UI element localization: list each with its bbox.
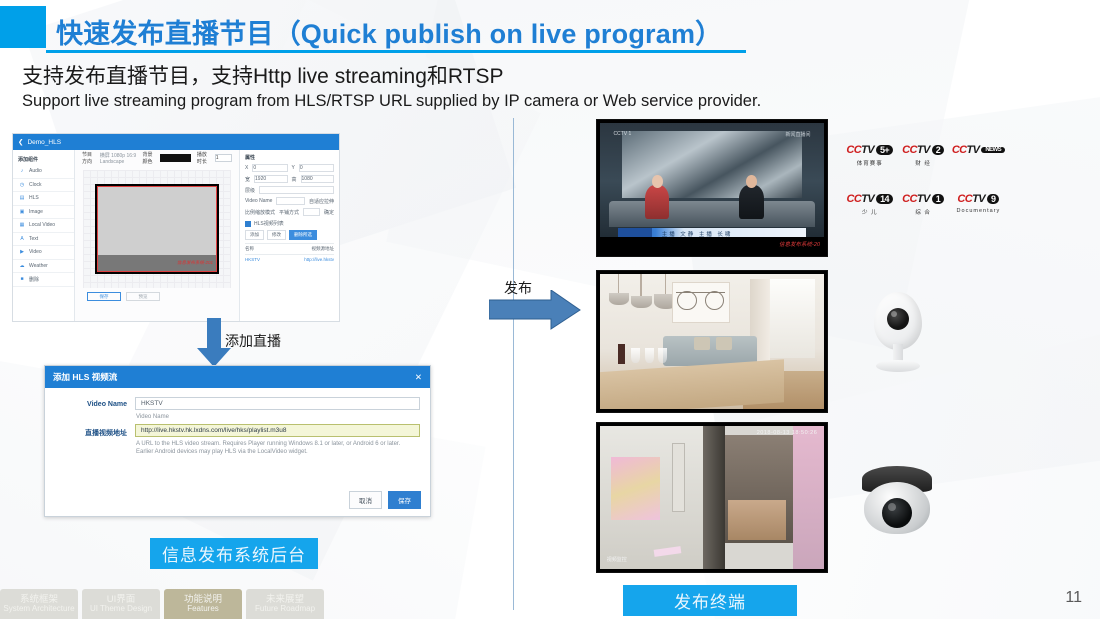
list-edit-button[interactable]: 修改 [267, 230, 286, 240]
cctv-wordmark: CCTV2 [902, 144, 944, 156]
add-hls-dialog: 添加 HLS 视频流 ✕ Video Name HKSTV Video Name… [44, 365, 431, 517]
list-delete-selected-button[interactable]: 删除所选 [289, 230, 317, 240]
stream-icon: ▤ [19, 195, 25, 201]
stream-url-help: A URL to the HLS video stream. Requires … [135, 437, 420, 457]
cctv-number: 5+ [876, 145, 893, 155]
property-row-name: Video Name 自适应拉伸 [245, 197, 334, 205]
zorder-input[interactable] [259, 186, 334, 194]
add-live-label: 添加直播 [225, 331, 281, 351]
cushion [716, 337, 732, 349]
sidebar-item-local-video[interactable]: ▦ Local Video [13, 219, 74, 233]
music-note-icon: ♪ [19, 168, 25, 174]
cctv-logo-news: CCTVNEWS [952, 140, 1005, 167]
chevron-left-icon[interactable]: ❮ [18, 138, 23, 146]
dialog-footer: 取消 保存 [349, 491, 421, 509]
sidebar-item-weather[interactable]: ☁ Weather [13, 260, 74, 274]
dialog-titlebar: 添加 HLS 视频流 ✕ [45, 366, 430, 388]
pendant-cord [665, 274, 667, 296]
app-screenshot-editor: ❮ Demo_HLS 添加组件 ♪ Audio ◷ Clock ▤ HLS ▣ … [12, 133, 340, 322]
wine-glass [658, 348, 667, 363]
tab-label-en: Future Roadmap [255, 605, 315, 613]
width-input[interactable]: 1920 [254, 175, 287, 183]
corridor-floor [728, 500, 786, 540]
cloud-icon: ☁ [19, 263, 25, 269]
canvas-footer-buttons: 保存 预览 [75, 292, 239, 301]
canvas-save-button[interactable]: 保存 [87, 292, 121, 301]
property-row-zorder: 层级 [245, 186, 334, 194]
tab-system-architecture[interactable]: 系统框架 System Architecture [0, 589, 78, 619]
section-divider [513, 118, 514, 610]
app-window-title: Demo_HLS [27, 139, 61, 146]
cctv-number: 14 [876, 194, 893, 204]
dialog-body: Video Name HKSTV Video Name 直播视频地址 http:… [45, 388, 430, 465]
pendant-shade [609, 293, 629, 305]
tab-features[interactable]: 功能说明 Features [164, 589, 242, 619]
fit-select[interactable] [303, 208, 320, 216]
fit-label: 平铺方式 [279, 209, 299, 216]
video-name-label: Video Name [55, 397, 127, 408]
property-row-xy: X 0 Y 0 [245, 164, 334, 172]
confirm-label[interactable]: 确定 [324, 209, 334, 216]
cctv-sublabel: 少 儿 [845, 208, 894, 216]
channel-logo-overlay: CCTV 1 [613, 131, 631, 137]
trash-icon: ■ [19, 276, 25, 282]
subtitle-chinese: 支持发布直播节目，支持Http live streaming和RTSP [22, 60, 504, 90]
cctv-logo-14: CCTV14 少 儿 [845, 189, 894, 216]
photo-cctv-news: CCTV 1 新闻直播间 主播 文静 主播 长啸 信息发布系统-20 [596, 119, 828, 257]
x-input[interactable]: 0 [252, 164, 287, 172]
cctv-sublabel: Documentary [952, 208, 1005, 214]
canvas-toolbar: 节目方向 横屏 1080p 16:9 Landscape 背景颜色 播放时长 1 [75, 150, 239, 166]
sidebar-heading: 添加组件 [13, 154, 74, 165]
duration-select[interactable]: 1 [215, 154, 232, 162]
cctv-logo-9: CCTV9 Documentary [952, 189, 1005, 216]
video-name-row: Video Name HKSTV Video Name [55, 397, 420, 422]
cctv-wordmark: CCTV9 [957, 193, 999, 205]
text-icon: A [19, 236, 25, 242]
camera-timestamp: 2018-08-13 18:50:26 [757, 430, 818, 436]
cctv-number: 2 [932, 145, 944, 155]
arrow-right-icon [489, 290, 581, 330]
property-row-scale: 比例缩放模式 平铺方式 确定 [245, 208, 334, 216]
camera-base [876, 360, 920, 372]
dome-camera [858, 462, 936, 544]
duration-label: 播放时长 [197, 151, 209, 165]
sidebar-item-label: Video [29, 249, 42, 255]
tab-ui-theme-design[interactable]: UI界面 UI Theme Design [82, 589, 160, 619]
wine-bottle [618, 344, 625, 364]
save-button[interactable]: 保存 [388, 491, 421, 509]
subtitle-english: Support live streaming program from HLS/… [22, 92, 761, 111]
news-anchor-right [739, 185, 764, 219]
video-name-input[interactable]: HKSTV [135, 397, 420, 410]
title-underline [46, 50, 746, 53]
elevator-button-panel [672, 443, 685, 512]
stream-url-input[interactable]: http://live.hkstv.hk.lxdns.com/live/hks/… [135, 424, 420, 437]
height-input[interactable]: 1080 [301, 175, 334, 183]
elevator-poster [611, 457, 660, 520]
clock-icon: ◷ [19, 182, 25, 188]
local-video-icon: ▦ [19, 222, 25, 228]
cctv-channel-logos: CCTV5+ 体育赛事 CCTV2 财 经 CCTVNEWS CCTV14 少 … [845, 140, 1005, 216]
image-icon: ▣ [19, 209, 25, 215]
sidebar-item-label: HLS [29, 195, 39, 201]
canvas-widget-hls[interactable]: 信息发布系统-201 [97, 186, 217, 272]
cctv-number: 1 [932, 194, 944, 204]
hls-list-buttons: 添加 修改 删除所选 [245, 230, 334, 240]
stream-url-row: 直播视频地址 http://live.hkstv.hk.lxdns.com/li… [55, 424, 420, 457]
camera-watermark: 视频监控 [607, 556, 627, 563]
app-widget-sidebar: 添加组件 ♪ Audio ◷ Clock ▤ HLS ▣ Image ▦ Loc… [13, 150, 75, 322]
canvas-screen: 信息发布系统-201 [95, 184, 219, 274]
x-label: X [245, 165, 248, 171]
pendant-shade [631, 296, 651, 308]
video-name-field: HKSTV Video Name [135, 397, 420, 422]
sidebar-item-hls[interactable]: ▤ HLS [13, 192, 74, 206]
sidebar-item-clock[interactable]: ◷ Clock [13, 179, 74, 193]
video-name-input[interactable] [276, 197, 305, 205]
news-studio-art: CCTV 1 新闻直播间 主播 文静 主播 长啸 [600, 123, 824, 253]
photo-elevator-surveillance: 2018-08-13 18:50:26 视频监控 [596, 422, 828, 573]
program-orientation-label: 节目方向 [82, 151, 94, 165]
camera-lens-icon [887, 308, 909, 330]
page-title: 快速发布直播节目（Quick publish on live program） [56, 12, 722, 51]
cctv-sublabel: 体育赛事 [845, 159, 894, 167]
sidebar-item-label: Weather [29, 263, 48, 269]
properties-title: 属性 [245, 154, 334, 161]
list-add-button[interactable]: 添加 [245, 230, 264, 240]
hls-list-header: HLS视频列表 [245, 220, 334, 227]
video-name-label: Video Name [245, 198, 272, 204]
cell-name: HKSTV [245, 257, 260, 262]
pendant-cord [640, 274, 642, 296]
dome-lens-icon [882, 498, 912, 528]
canvas-watermark: 信息发布系统-201 [98, 255, 216, 271]
cctv-logo-2: CCTV2 财 经 [898, 140, 947, 167]
background-color-label: 背景颜色 [142, 151, 154, 165]
cctv-sublabel: 财 经 [898, 159, 947, 167]
photo-living-room [596, 270, 828, 413]
table-row[interactable]: HKSTV http://live.hkstv [245, 255, 334, 264]
title-accent-block [0, 6, 46, 48]
sidebar-item-text[interactable]: A Text [13, 233, 74, 247]
sidebar-item-audio[interactable]: ♪ Audio [13, 165, 74, 179]
wine-glass [645, 348, 654, 363]
y-input[interactable]: 0 [299, 164, 334, 172]
property-row-wh: 宽 1920 高 1080 [245, 175, 334, 183]
sidebar-item-label: Text [29, 236, 38, 242]
cctv-wordmark: CCTVNEWS [952, 144, 1005, 156]
sidebar-item-delete[interactable]: ■ 删除 [13, 273, 74, 287]
y-label: Y [292, 165, 295, 171]
photo-inner [600, 274, 824, 409]
news-desk [609, 201, 815, 227]
app-titlebar: ❮ Demo_HLS [13, 134, 339, 150]
video-icon: ▶ [19, 249, 25, 255]
sidebar-item-image[interactable]: ▣ Image [13, 206, 74, 220]
news-anchor-left [645, 185, 670, 219]
photo-inner: 2018-08-13 18:50:26 视频监控 [600, 426, 824, 569]
cctv-wordmark: CCTV5+ [846, 144, 893, 156]
cctv-sublabel: 综 合 [898, 208, 947, 216]
cancel-button[interactable]: 取消 [349, 491, 382, 509]
tab-label-en: UI Theme Design [90, 605, 152, 613]
canvas-grid[interactable]: 信息发布系统-201 [83, 170, 231, 288]
cctv-wordmark: CCTV1 [902, 193, 944, 205]
height-label: 高 [292, 176, 297, 183]
column-name: 名称 [245, 246, 254, 252]
stream-url-field: http://live.hkstv.hk.lxdns.com/live/hks/… [135, 424, 420, 457]
sidebar-item-label: Clock [29, 182, 42, 188]
cctv-number: 9 [987, 194, 999, 204]
width-label: 宽 [245, 176, 250, 183]
cushion [694, 337, 710, 349]
sidebar-item-label: 删除 [29, 276, 39, 283]
overlay-watermark: 信息发布系统-20 [600, 237, 824, 253]
column-url: 视频源地址 [312, 246, 335, 252]
scale-mode-label: 比例缩放模式 [245, 209, 275, 216]
bicycle-art [676, 292, 725, 311]
sidebar-item-label: Local Video [29, 222, 55, 228]
dining-table [600, 359, 784, 409]
app-body: 添加组件 ♪ Audio ◷ Clock ▤ HLS ▣ Image ▦ Loc… [13, 150, 339, 322]
cctv-number: NEWS [981, 147, 1005, 153]
tab-label-en: System Architecture [3, 605, 74, 613]
list-marker-icon [245, 221, 251, 227]
cctv-wordmark: CCTV14 [847, 193, 893, 205]
hls-list-title: HLS视频列表 [254, 220, 284, 227]
background-color-swatch[interactable] [160, 154, 191, 162]
zorder-label: 层级 [245, 187, 255, 194]
cctv-logo-1: CCTV1 综 合 [898, 189, 947, 216]
stream-url-label: 直播视频地址 [55, 424, 127, 438]
tab-future-roadmap[interactable]: 未来展望 Future Roadmap [246, 589, 324, 619]
app-canvas-area: 节目方向 横屏 1080p 16:9 Landscape 背景颜色 播放时长 1… [75, 150, 239, 322]
living-room-art [600, 274, 824, 409]
section-tabs: 系统框架 System Architecture UI界面 UI Theme D… [0, 589, 324, 619]
page-number: 11 [1065, 589, 1082, 607]
ip-camera-indoor [860, 292, 936, 378]
badge-backend: 信息发布系统后台 [150, 538, 318, 569]
dialog-title: 添加 HLS 视频流 [53, 371, 117, 383]
stretch-label: 自适应拉伸 [309, 198, 334, 205]
close-icon[interactable]: ✕ [415, 372, 422, 383]
program-orientation-value: 横屏 1080p 16:9 Landscape [100, 152, 137, 165]
cell-url: http://live.hkstv [304, 257, 334, 262]
elevator-cam-art: 2018-08-13 18:50:26 视频监控 [600, 426, 824, 569]
video-name-help: Video Name [135, 410, 420, 422]
hls-list-columns: 名称 视频源地址 [245, 243, 334, 255]
photo-inner: CCTV 1 新闻直播间 主播 文静 主播 长啸 信息发布系统-20 [600, 123, 824, 253]
cctv-logo-5plus: CCTV5+ 体育赛事 [845, 140, 894, 167]
program-watermark: 新闻直播间 [786, 131, 811, 138]
canvas-preview-button[interactable]: 预览 [126, 292, 160, 301]
publish-arrow [489, 290, 581, 335]
right-wall-poster [793, 426, 824, 569]
sidebar-item-video[interactable]: ▶ Video [13, 246, 74, 260]
sidebar-item-label: Audio [29, 168, 42, 174]
wine-glass [631, 348, 640, 363]
badge-terminal: 发布终端 [623, 585, 797, 616]
sidebar-item-label: Image [29, 209, 43, 215]
elevator-door [703, 426, 725, 569]
tab-label-en: Features [187, 605, 219, 613]
app-properties-panel: 属性 X 0 Y 0 宽 1920 高 1080 层级 Video Name 自… [239, 150, 339, 322]
